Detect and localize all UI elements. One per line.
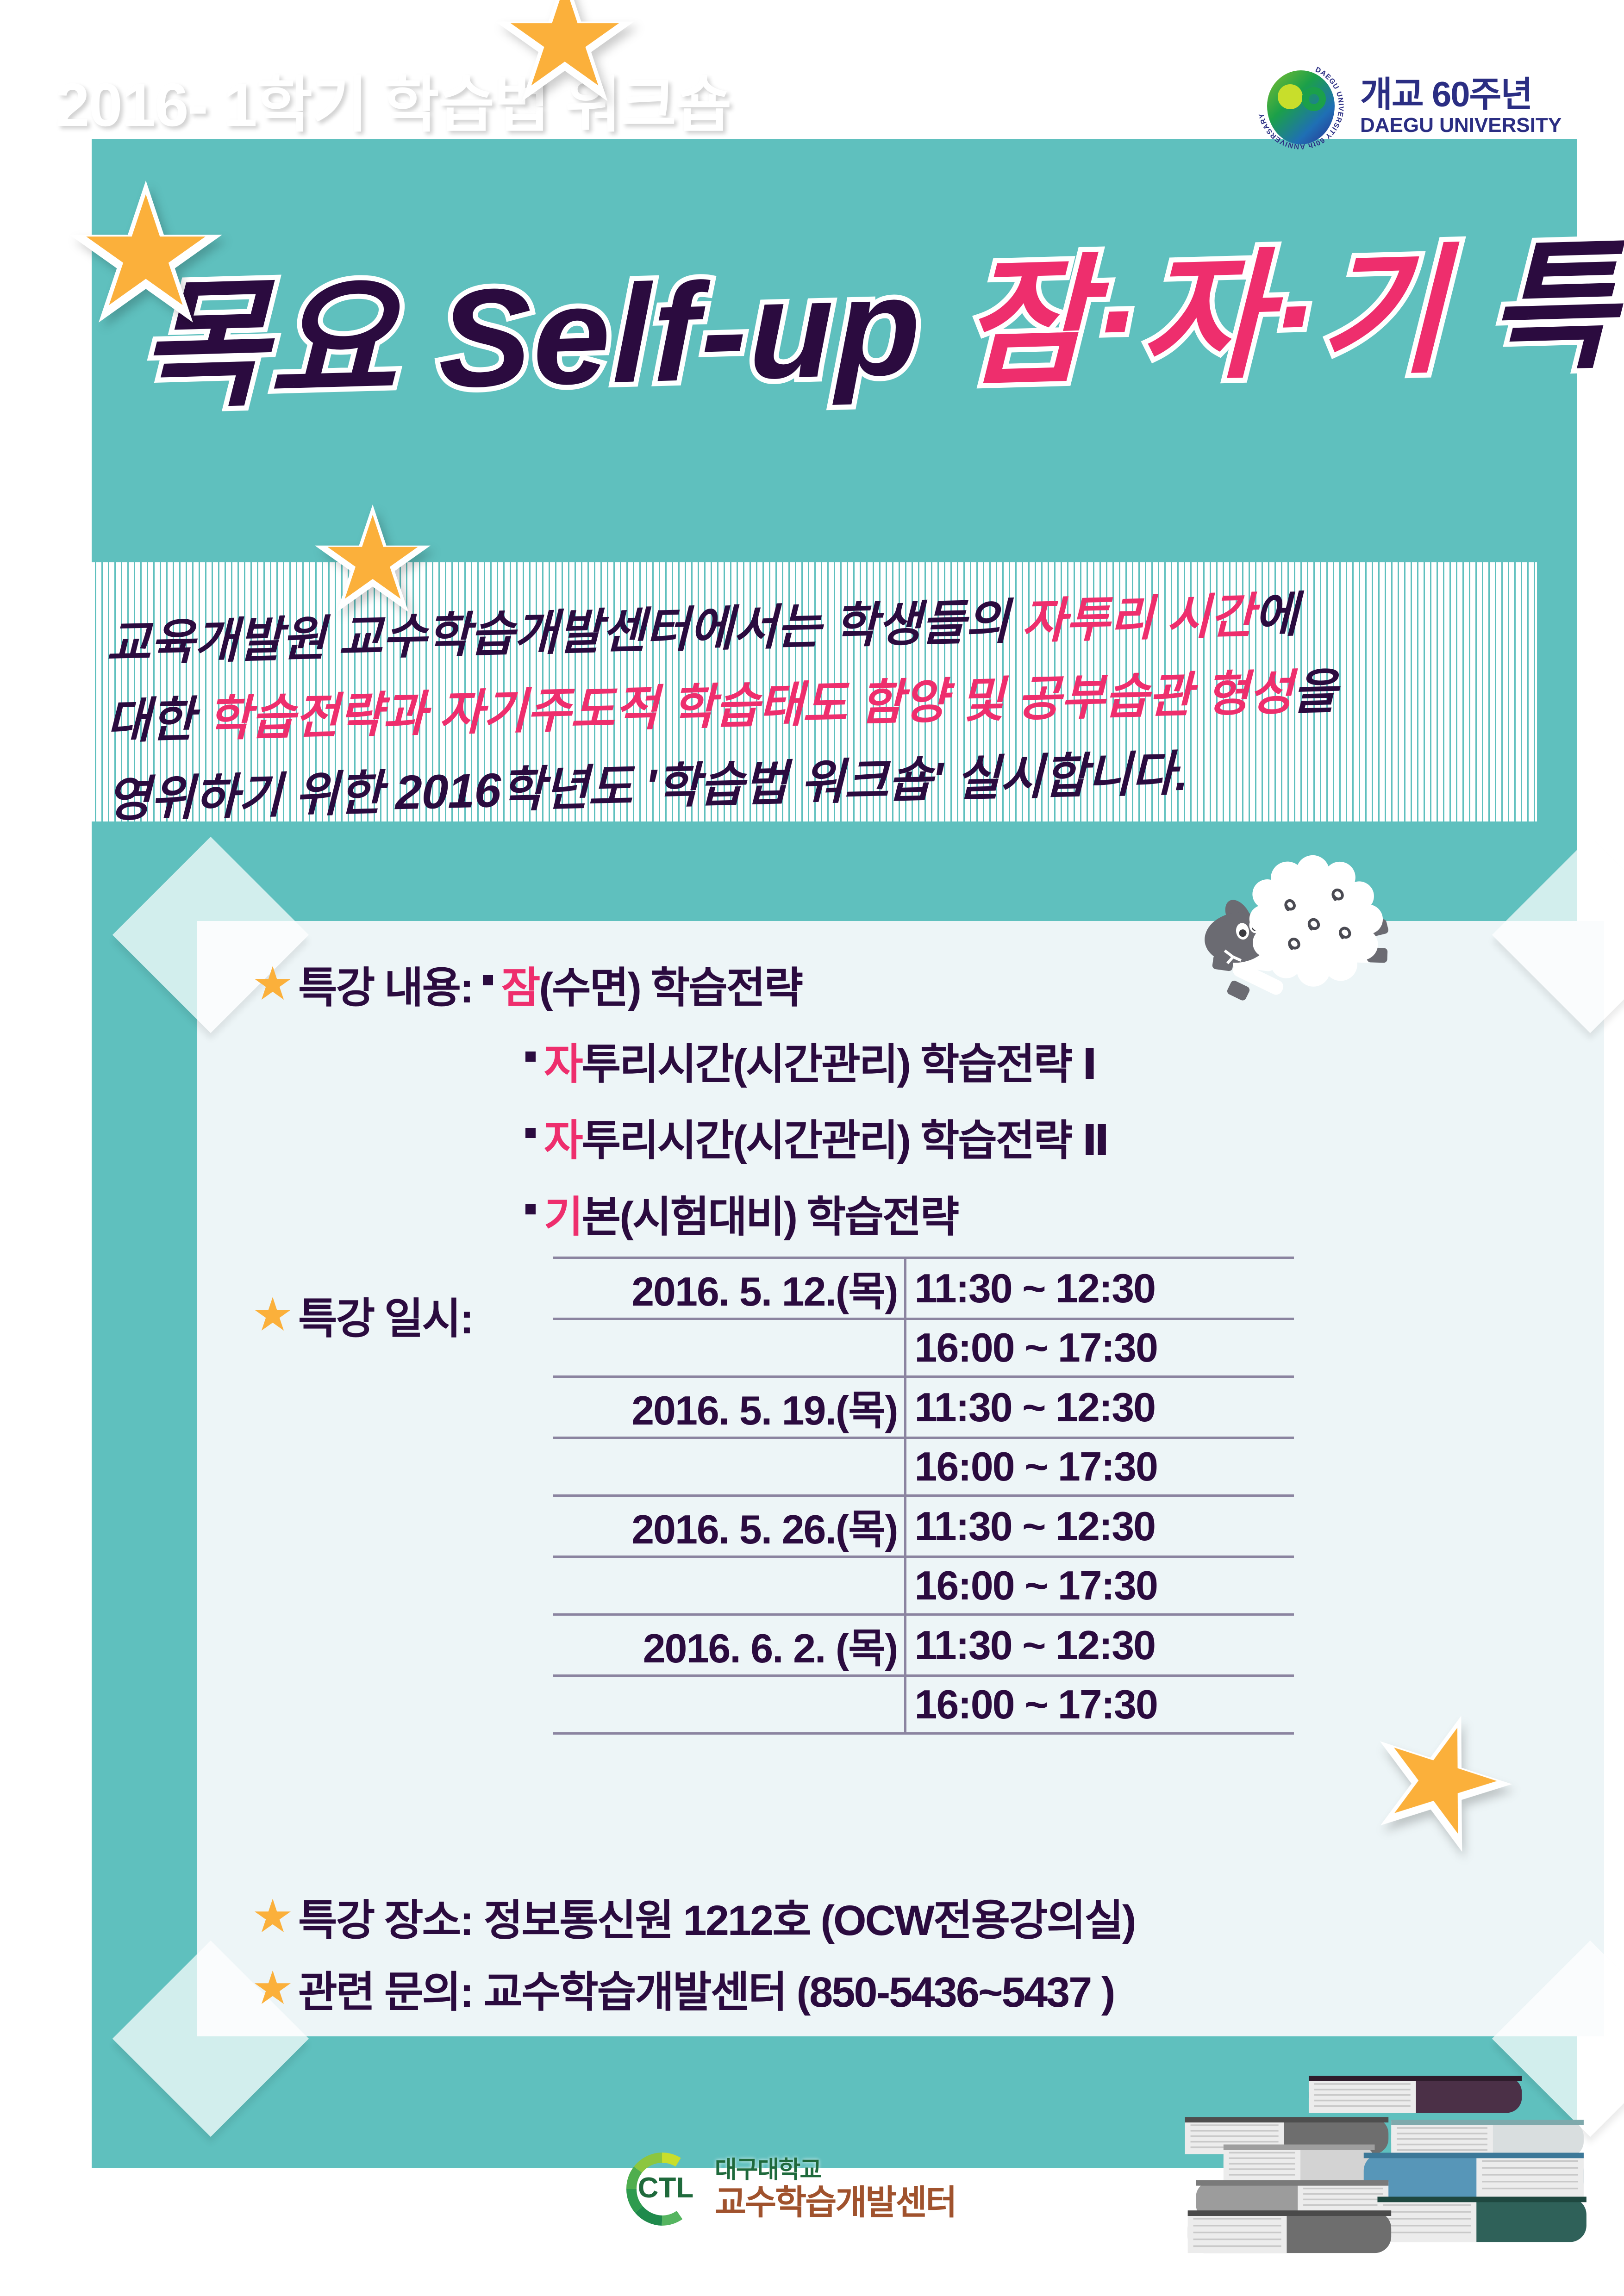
main-title: 목요 Self-up 잠·자·기 특강 — [139, 240, 1481, 417]
schedule-time: 11:30 ~ 12:30 — [905, 1496, 1294, 1557]
list-item: 자투리시간(시간관리) 학습전략 Ⅱ — [544, 1106, 1108, 1168]
list-bullet-icon-3 — [525, 1128, 536, 1138]
schedule-date: 2016. 5. 19.(목) — [553, 1377, 905, 1438]
list-bullet-icon-4 — [525, 1204, 536, 1214]
schedule-date: 2016. 5. 12.(목) — [553, 1258, 905, 1319]
list-item: 잠(수면) 학습전략 — [501, 953, 802, 1015]
place-value: 정보통신원 1212호 (OCW전용강의실) — [484, 1886, 1135, 1948]
schedule-date: 2016. 6. 2. (목) — [553, 1615, 905, 1676]
ctl-abbr-text: CTL — [638, 2172, 694, 2204]
item-highlight-1: 잠 — [501, 964, 539, 1012]
contact-row: 관련 문의: 교수학습개발센터 (850-5436~5437 ) — [255, 1958, 1114, 2019]
main-title-part2: 잠·자·기 — [962, 233, 1448, 402]
item-rest-2: 투리시간(시간관리) 학습전략 Ⅰ — [582, 1041, 1096, 1088]
anniversary-zero-icon — [1302, 87, 1326, 111]
schedule-time: 11:30 ~ 12:30 — [905, 1377, 1294, 1438]
intro-line2-highlight: 학습전략과 자기주도적 학습태도 함양 및 공부습관 형성 — [207, 666, 1293, 746]
content-row-label: 특강 내용: 잠(수면) 학습전략 — [255, 953, 802, 1015]
schedule-time: 16:00 ~ 17:30 — [905, 1319, 1294, 1377]
table-row: 2016. 5. 26.(목)11:30 ~ 12:30 — [553, 1496, 1294, 1557]
content-label: 특강 내용: — [298, 953, 473, 1015]
table-row: 16:00 ~ 17:30 — [553, 1438, 1294, 1496]
schedule-time: 16:00 ~ 17:30 — [905, 1557, 1294, 1615]
list-bullet-icon-1 — [483, 975, 493, 985]
main-title-part3: 특강 — [1448, 224, 1624, 388]
ctl-mark-icon: CTL — [620, 2147, 704, 2231]
item-highlight-4: 기 — [544, 1194, 582, 1241]
schedule-time: 11:30 ~ 12:30 — [905, 1615, 1294, 1676]
contact-label: 관련 문의: — [298, 1958, 473, 2019]
table-row: 2016. 5. 19.(목)11:30 ~ 12:30 — [553, 1377, 1294, 1438]
star-icon-left — [69, 180, 222, 333]
star-icon-top — [495, 0, 634, 111]
ctl-c-ring-icon: CTL — [620, 2147, 704, 2231]
schedule-date: 2016. 5. 26.(목) — [553, 1496, 905, 1557]
main-title-part1: 목요 Self-up — [139, 247, 962, 425]
schedule-table: 2016. 5. 12.(목)11:30 ~ 12:30 16:00 ~ 17:… — [553, 1257, 1294, 1735]
table-row: 2016. 6. 2. (목)11:30 ~ 12:30 — [553, 1615, 1294, 1676]
item-highlight-2: 자 — [544, 1041, 582, 1088]
content-row-item-3: 자투리시간(시간관리) 학습전략 Ⅱ — [525, 1106, 1108, 1168]
poster-root: 2016- 1학기 학습법 워크숍 DAEGU UNIVERSITY 60th … — [0, 0, 1624, 2296]
intro-line1-a: 교육개발원 교수학습개발센터에서는 학생들의 — [106, 595, 1022, 671]
schedule-time: 16:00 ~ 17:30 — [905, 1676, 1294, 1734]
table-row: 16:00 ~ 17:30 — [553, 1676, 1294, 1734]
content-row-item-4: 기본(시험대비) 학습전략 — [525, 1182, 958, 1244]
star-icon-bullet-content — [255, 966, 291, 1002]
schedule-time: 16:00 ~ 17:30 — [905, 1438, 1294, 1496]
schedule-date — [553, 1438, 905, 1496]
list-bullet-icon-2 — [525, 1052, 536, 1062]
list-item: 자투리시간(시간관리) 학습전략 Ⅰ — [544, 1030, 1096, 1091]
ctl-footer-logo: CTL 대구대학교 교수학습개발센터 — [620, 2147, 956, 2231]
item-rest-3: 투리시간(시간관리) 학습전략 Ⅱ — [582, 1117, 1109, 1164]
schedule-date — [553, 1319, 905, 1377]
schedule-date — [553, 1676, 905, 1734]
books-stack-icon — [1171, 2060, 1624, 2282]
star-icon-bullet-place — [255, 1899, 291, 1935]
ctl-line-1: 대구대학교 — [715, 2158, 956, 2183]
daegu-university-60th-logo: DAEGU UNIVERSITY 60th ANNIVERSARY 개교 60주… — [1255, 58, 1579, 155]
intro-line1-b: 에 — [1254, 588, 1298, 643]
content-row-item-2: 자투리시간(시간관리) 학습전략 Ⅰ — [525, 1030, 1096, 1091]
table-row: 16:00 ~ 17:30 — [553, 1557, 1294, 1615]
schedule-date — [553, 1557, 905, 1615]
ctl-line-2: 교수학습개발센터 — [715, 2184, 956, 2221]
item-rest-4: 본(시험대비) 학습전략 — [582, 1194, 958, 1241]
table-row: 2016. 5. 12.(목)11:30 ~ 12:30 — [553, 1258, 1294, 1319]
star-icon-bullet-date — [255, 1297, 291, 1333]
table-row: 16:00 ~ 17:30 — [553, 1319, 1294, 1377]
anniversary-blob-icon — [1267, 70, 1335, 144]
schedule-table-body: 2016. 5. 12.(목)11:30 ~ 12:30 16:00 ~ 17:… — [553, 1258, 1294, 1734]
anniversary-mark-icon: DAEGU UNIVERSITY 60th ANNIVERSARY — [1255, 60, 1347, 153]
intro-line1-highlight: 자투리 시간 — [1022, 589, 1254, 648]
anniversary-label-kr: 개교 60주년 — [1360, 77, 1562, 112]
intro-line2-a: 대한 — [106, 693, 207, 749]
intro-line2-b: 을 — [1293, 665, 1337, 720]
item-highlight-3: 자 — [544, 1117, 582, 1164]
place-label: 특강 장소: — [298, 1886, 473, 1948]
star-icon-middle — [315, 504, 431, 620]
date-row-label: 특강 일시: — [255, 1284, 473, 1346]
list-item: 기본(시험대비) 학습전략 — [544, 1182, 958, 1244]
anniversary-six-icon — [1278, 84, 1303, 109]
star-icon-bullet-contact — [255, 1971, 291, 2007]
place-row: 특강 장소: 정보통신원 1212호 (OCW전용강의실) — [255, 1886, 1135, 1948]
item-rest-1: (수면) 학습전략 — [539, 964, 802, 1012]
contact-value: 교수학습개발센터 (850-5436~5437 ) — [484, 1958, 1114, 2019]
sheep-icon — [1176, 852, 1417, 1004]
anniversary-label-en: DAEGU UNIVERSITY — [1360, 115, 1562, 136]
schedule-time: 11:30 ~ 12:30 — [905, 1258, 1294, 1319]
date-label: 특강 일시: — [298, 1284, 473, 1346]
